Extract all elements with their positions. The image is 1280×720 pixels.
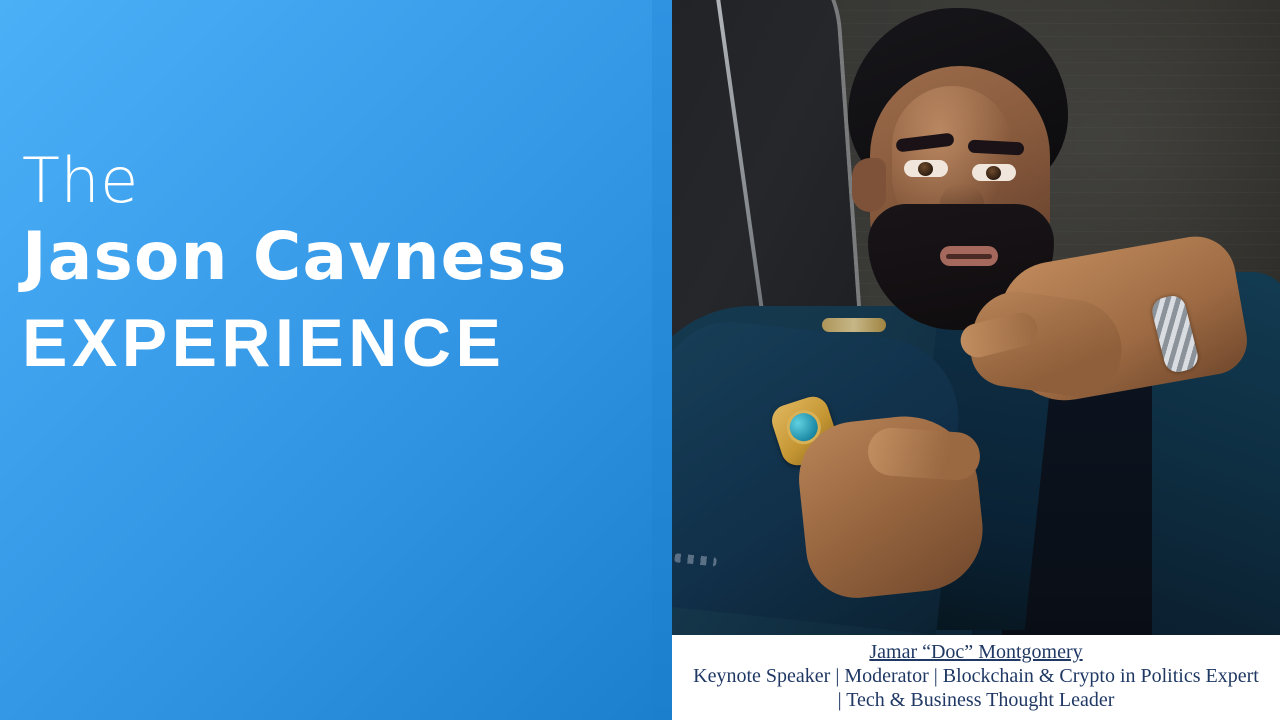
title-panel: The Jason Cavness EXPERIENCE xyxy=(0,0,672,720)
eye-right xyxy=(972,164,1016,181)
caption-block: Jamar “Doc” Montgomery Keynote Speaker |… xyxy=(672,635,1280,720)
title-line-name: Jason Cavness xyxy=(22,214,652,300)
title-line-the: The xyxy=(22,148,652,214)
speaker-credentials-line-2: | Tech & Business Thought Leader xyxy=(838,688,1115,712)
accent-strip xyxy=(652,0,672,720)
title-line-experience: EXPERIENCE xyxy=(22,300,652,386)
presentation-slide: The Jason Cavness EXPERIENCE xyxy=(0,0,1280,720)
gold-chain xyxy=(822,318,886,332)
mouth xyxy=(940,246,998,266)
speaker-credentials-line-1: Keynote Speaker | Moderator | Blockchain… xyxy=(693,664,1259,688)
cuff-buttons xyxy=(674,553,717,566)
pointing-finger-left xyxy=(866,426,981,482)
title-block: The Jason Cavness EXPERIENCE xyxy=(22,148,652,386)
ear xyxy=(852,158,886,212)
photo-background xyxy=(672,0,1280,635)
speaker-name[interactable]: Jamar “Doc” Montgomery xyxy=(869,640,1082,664)
eye-left xyxy=(904,160,948,177)
speaker-photo xyxy=(672,0,1280,635)
